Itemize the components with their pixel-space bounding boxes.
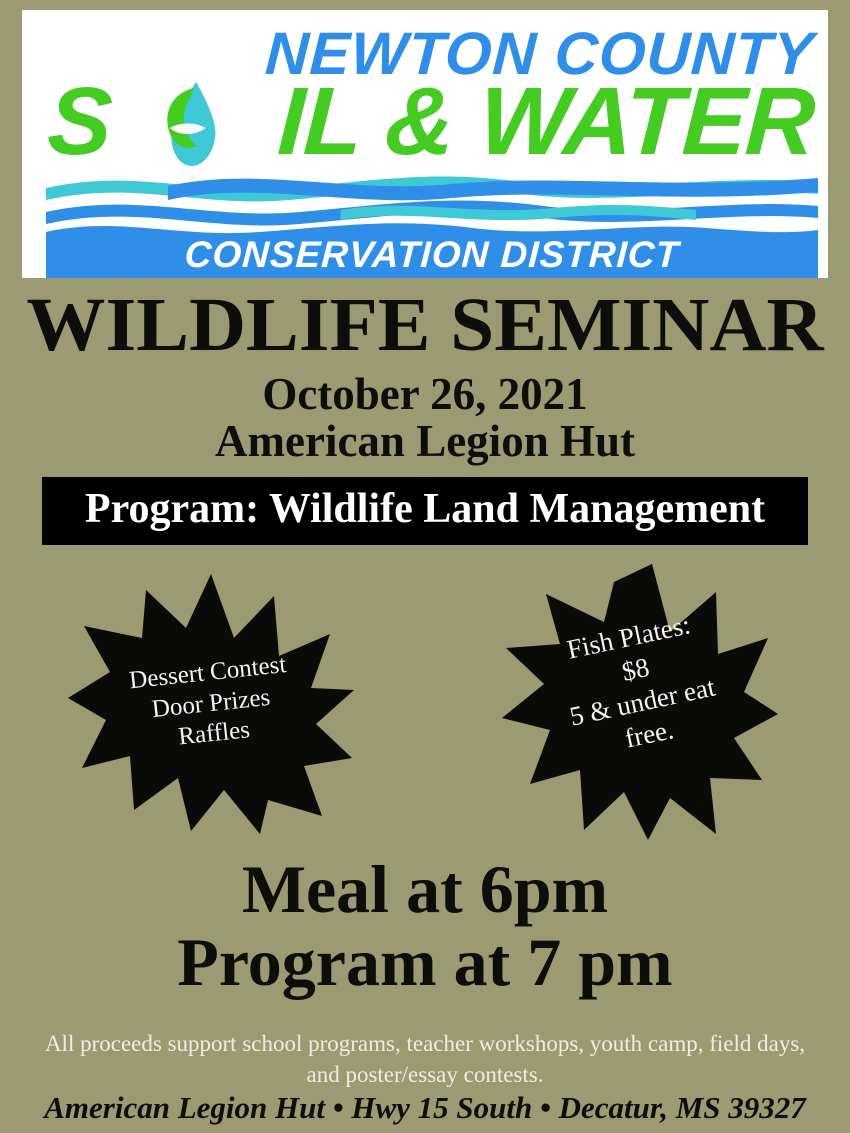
program-banner: Program: Wildlife Land Management — [42, 477, 808, 545]
logo-letter-s: S — [45, 74, 113, 170]
meal-time: Meal at 6pm — [0, 855, 850, 923]
conservation-district-band: CONSERVATION DISTRICT — [46, 222, 818, 278]
proceeds-note: All proceeds support school programs, te… — [28, 1028, 822, 1090]
logo-soil-water-text: S IL & WATER — [45, 74, 816, 170]
event-venue: American Legion Hut — [0, 419, 850, 464]
event-date: October 26, 2021 — [0, 372, 850, 417]
program-start-time: Program at 7 pm — [0, 928, 850, 996]
page-title: WILDLIFE SEMINAR — [0, 287, 850, 363]
fish-plates-star-burst: Fish Plates: $8 5 & under eat free. — [500, 562, 778, 840]
organization-logo: NEWTON COUNTY S IL & WATER — [22, 10, 828, 278]
poster-canvas: NEWTON COUNTY S IL & WATER — [0, 0, 850, 1133]
dessert-star-burst: Dessert Contest Door Prizes Raffles — [68, 572, 354, 834]
logo-soil-water-remainder: IL & WATER — [276, 74, 817, 170]
water-drop-leaf-icon — [149, 74, 238, 170]
address-line: American Legion Hut • Hwy 15 South • Dec… — [0, 1092, 850, 1123]
program-banner-text: Program: Wildlife Land Management — [42, 488, 808, 530]
conservation-district-text: CONSERVATION DISTRICT — [46, 236, 818, 273]
